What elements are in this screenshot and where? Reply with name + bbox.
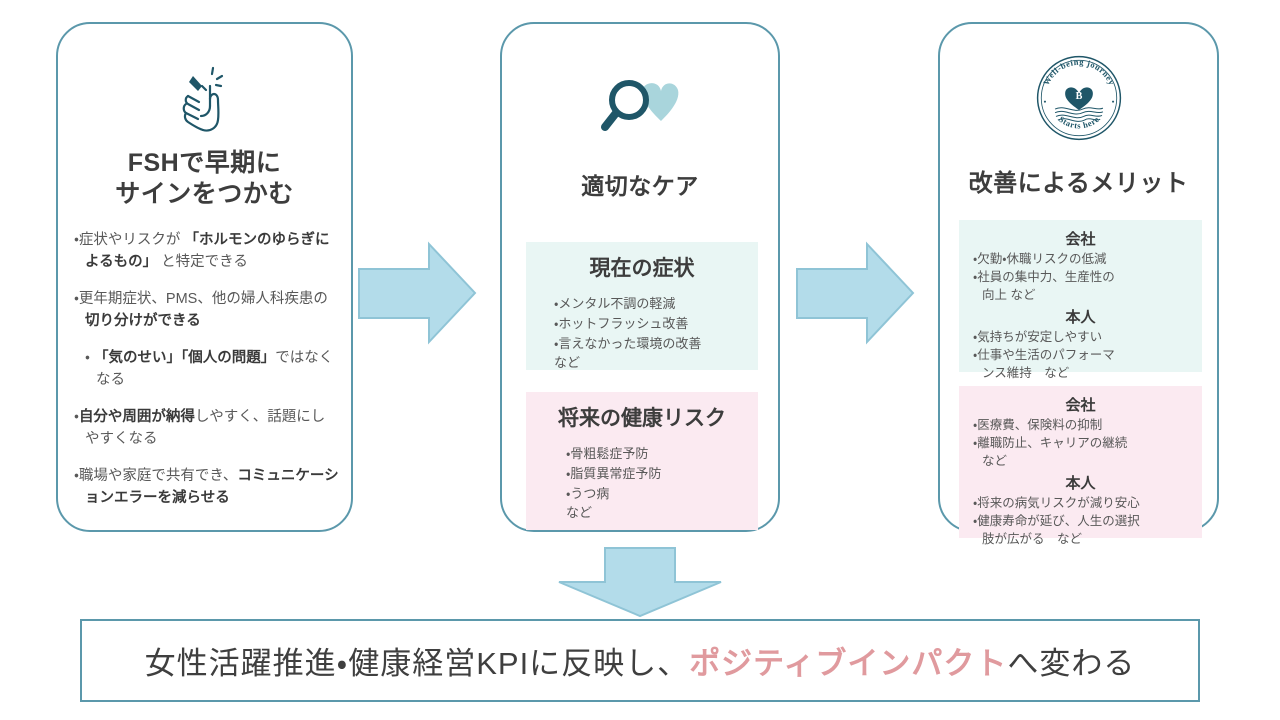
list-item: ・欠勤・休職リスクの低減: [973, 251, 1196, 269]
card-fsh-early-sign: FSHで早期に サインをつかむ ・症状やリスクが 「ホルモンのゆらぎによるもの」…: [56, 22, 353, 532]
bullet-item: ・自分や周囲が納得しやすく、話題にしやすくなる: [74, 406, 339, 450]
panel-merit-pink: 会社・医療費、保険料の抑制・離職防止、キャリアの継続など本人・将来の病気リスクが…: [959, 386, 1202, 538]
card-improvement-merits: B Well-being journey Starts here: [938, 22, 1219, 532]
hand-fingerprick-lancet-icon: [58, 66, 351, 138]
bullet-item: ・症状やリスクが 「ホルモンのゆらぎによるもの」 と特定できる: [74, 229, 339, 273]
list-item: ・メンタル不調の軽減: [554, 294, 758, 314]
arrow-cards-to-banner-icon: [557, 546, 723, 623]
list-item: ・医療費、保険料の抑制: [973, 417, 1196, 435]
arrow-card2-to-card3-icon: [795, 241, 915, 351]
list-item: ・気持ちが安定しやすい: [973, 329, 1196, 347]
bullet-emphasis: 切り分けができる: [85, 313, 201, 329]
list-item: ・将来の病気リスクが減り安心: [973, 495, 1196, 513]
list-item: ・ホットフラッシュ改善: [554, 314, 758, 334]
list-item: 肢が広がる など: [973, 531, 1196, 549]
banner-text: 女性活躍推進・健康経営KPIに反映し、ポジティブインパクトへ変わる: [145, 638, 1136, 683]
card-title-care: 適切なケア: [502, 172, 778, 201]
card-title-line1: FSHで早期に: [58, 148, 351, 179]
bullet-text: ・職場や家庭で共有でき、: [74, 468, 237, 484]
list-item: など: [554, 353, 758, 373]
merit-list: ・気持ちが安定しやすい・仕事や生活のパフォーマンス維持 など: [959, 329, 1202, 382]
panel-current-symptoms: 現在の症状 ・メンタル不調の軽減・ホットフラッシュ改善・言えなかった環境の改善な…: [526, 242, 758, 370]
merit-group-heading: 会社: [959, 228, 1202, 249]
card-title-fsh: FSHで早期に サインをつかむ: [58, 148, 351, 210]
list-item: ・うつ病: [566, 484, 758, 504]
merit-group-heading: 本人: [959, 306, 1202, 327]
logo-bottom-arc-text: Starts here: [1056, 114, 1100, 130]
bullet-text: ・症状やリスクが: [74, 232, 184, 248]
list-future-health-risk: ・骨粗鬆症予防・脂質異常症予防・うつ病など: [526, 444, 758, 523]
list-item: ・離職防止、キャリアの継続: [973, 435, 1196, 453]
list-current-symptoms: ・メンタル不調の軽減・ホットフラッシュ改善・言えなかった環境の改善など: [526, 294, 758, 373]
bullet-item: ・ 「気のせい」「個人の問題」ではなくなる: [74, 347, 339, 391]
list-item: など: [973, 453, 1196, 471]
bullet-text: ・: [85, 350, 94, 366]
list-item: ・社員の集中力、生産性の: [973, 269, 1196, 287]
merit-list: ・医療費、保険料の抑制・離職防止、キャリアの継続など: [959, 417, 1202, 470]
bottom-banner: 女性活躍推進・健康経営KPIに反映し、ポジティブインパクトへ変わる: [80, 619, 1200, 702]
list-item: ・言えなかった環境の改善: [554, 334, 758, 354]
card-title-merits: 改善によるメリット: [940, 169, 1217, 199]
bullet-text: と特定できる: [157, 254, 248, 270]
arrow-card1-to-card2-icon: [357, 241, 477, 351]
merit-group-heading: 会社: [959, 394, 1202, 415]
merit-list: ・将来の病気リスクが減り安心・健康寿命が延び、人生の選択肢が広がる など: [959, 495, 1202, 548]
panel-title-current-symptoms: 現在の症状: [526, 252, 758, 282]
list-item: など: [566, 503, 758, 523]
magnifier-heart-icon: [502, 74, 778, 138]
bullet-list-fsh: ・症状やリスクが 「ホルモンのゆらぎによるもの」 と特定できる・更年期症状、PM…: [74, 229, 339, 524]
list-item: ・健康寿命が延び、人生の選択: [973, 513, 1196, 531]
list-item: 向上 など: [973, 287, 1196, 305]
list-item: ・脂質異常症予防: [566, 464, 758, 484]
banner-accent-text: ポジティブインパクト: [689, 646, 1007, 681]
card-appropriate-care: 適切なケア 現在の症状 ・メンタル不調の軽減・ホットフラッシュ改善・言えなかった…: [500, 22, 780, 532]
list-item: ・骨粗鬆症予防: [566, 444, 758, 464]
panel-title-future-risk: 将来の健康リスク: [526, 402, 758, 432]
panel-future-health-risk: 将来の健康リスク ・骨粗鬆症予防・脂質異常症予防・うつ病など: [526, 392, 758, 530]
bullet-emphasis: 自分や周囲が納得: [79, 409, 195, 425]
bullet-item: ・更年期症状、PMS、他の婦人科疾患の切り分けができる: [74, 288, 339, 332]
bullet-emphasis: 「気のせい」「個人の問題」: [94, 350, 275, 366]
wellbeing-journey-stamp-logo-icon: B Well-being journey Starts here: [940, 52, 1217, 144]
card-title-line2: サインをつかむ: [58, 179, 351, 210]
merit-list: ・欠勤・休職リスクの低減・社員の集中力、生産性の向上 など: [959, 251, 1202, 304]
banner-text-before: 女性活躍推進・健康経営KPIに反映し、: [145, 646, 690, 681]
banner-text-after: へ変わる: [1007, 646, 1135, 681]
list-item: ンス維持 など: [973, 365, 1196, 383]
logo-top-arc-text: Well-being journey: [1040, 57, 1116, 87]
bullet-text: ・更年期症状、PMS、他の婦人科疾患の: [74, 291, 328, 307]
infographic-canvas: FSHで早期に サインをつかむ ・症状やリスクが 「ホルモンのゆらぎによるもの」…: [0, 0, 1280, 720]
list-item: ・仕事や生活のパフォーマ: [973, 347, 1196, 365]
merit-group-heading: 本人: [959, 472, 1202, 493]
bullet-item: ・職場や家庭で共有でき、コミュニケーションエラーを減らせる: [74, 465, 339, 509]
logo-monogram: B: [1075, 91, 1082, 102]
panel-merit-teal: 会社・欠勤・休職リスクの低減・社員の集中力、生産性の向上 など本人・気持ちが安定…: [959, 220, 1202, 372]
